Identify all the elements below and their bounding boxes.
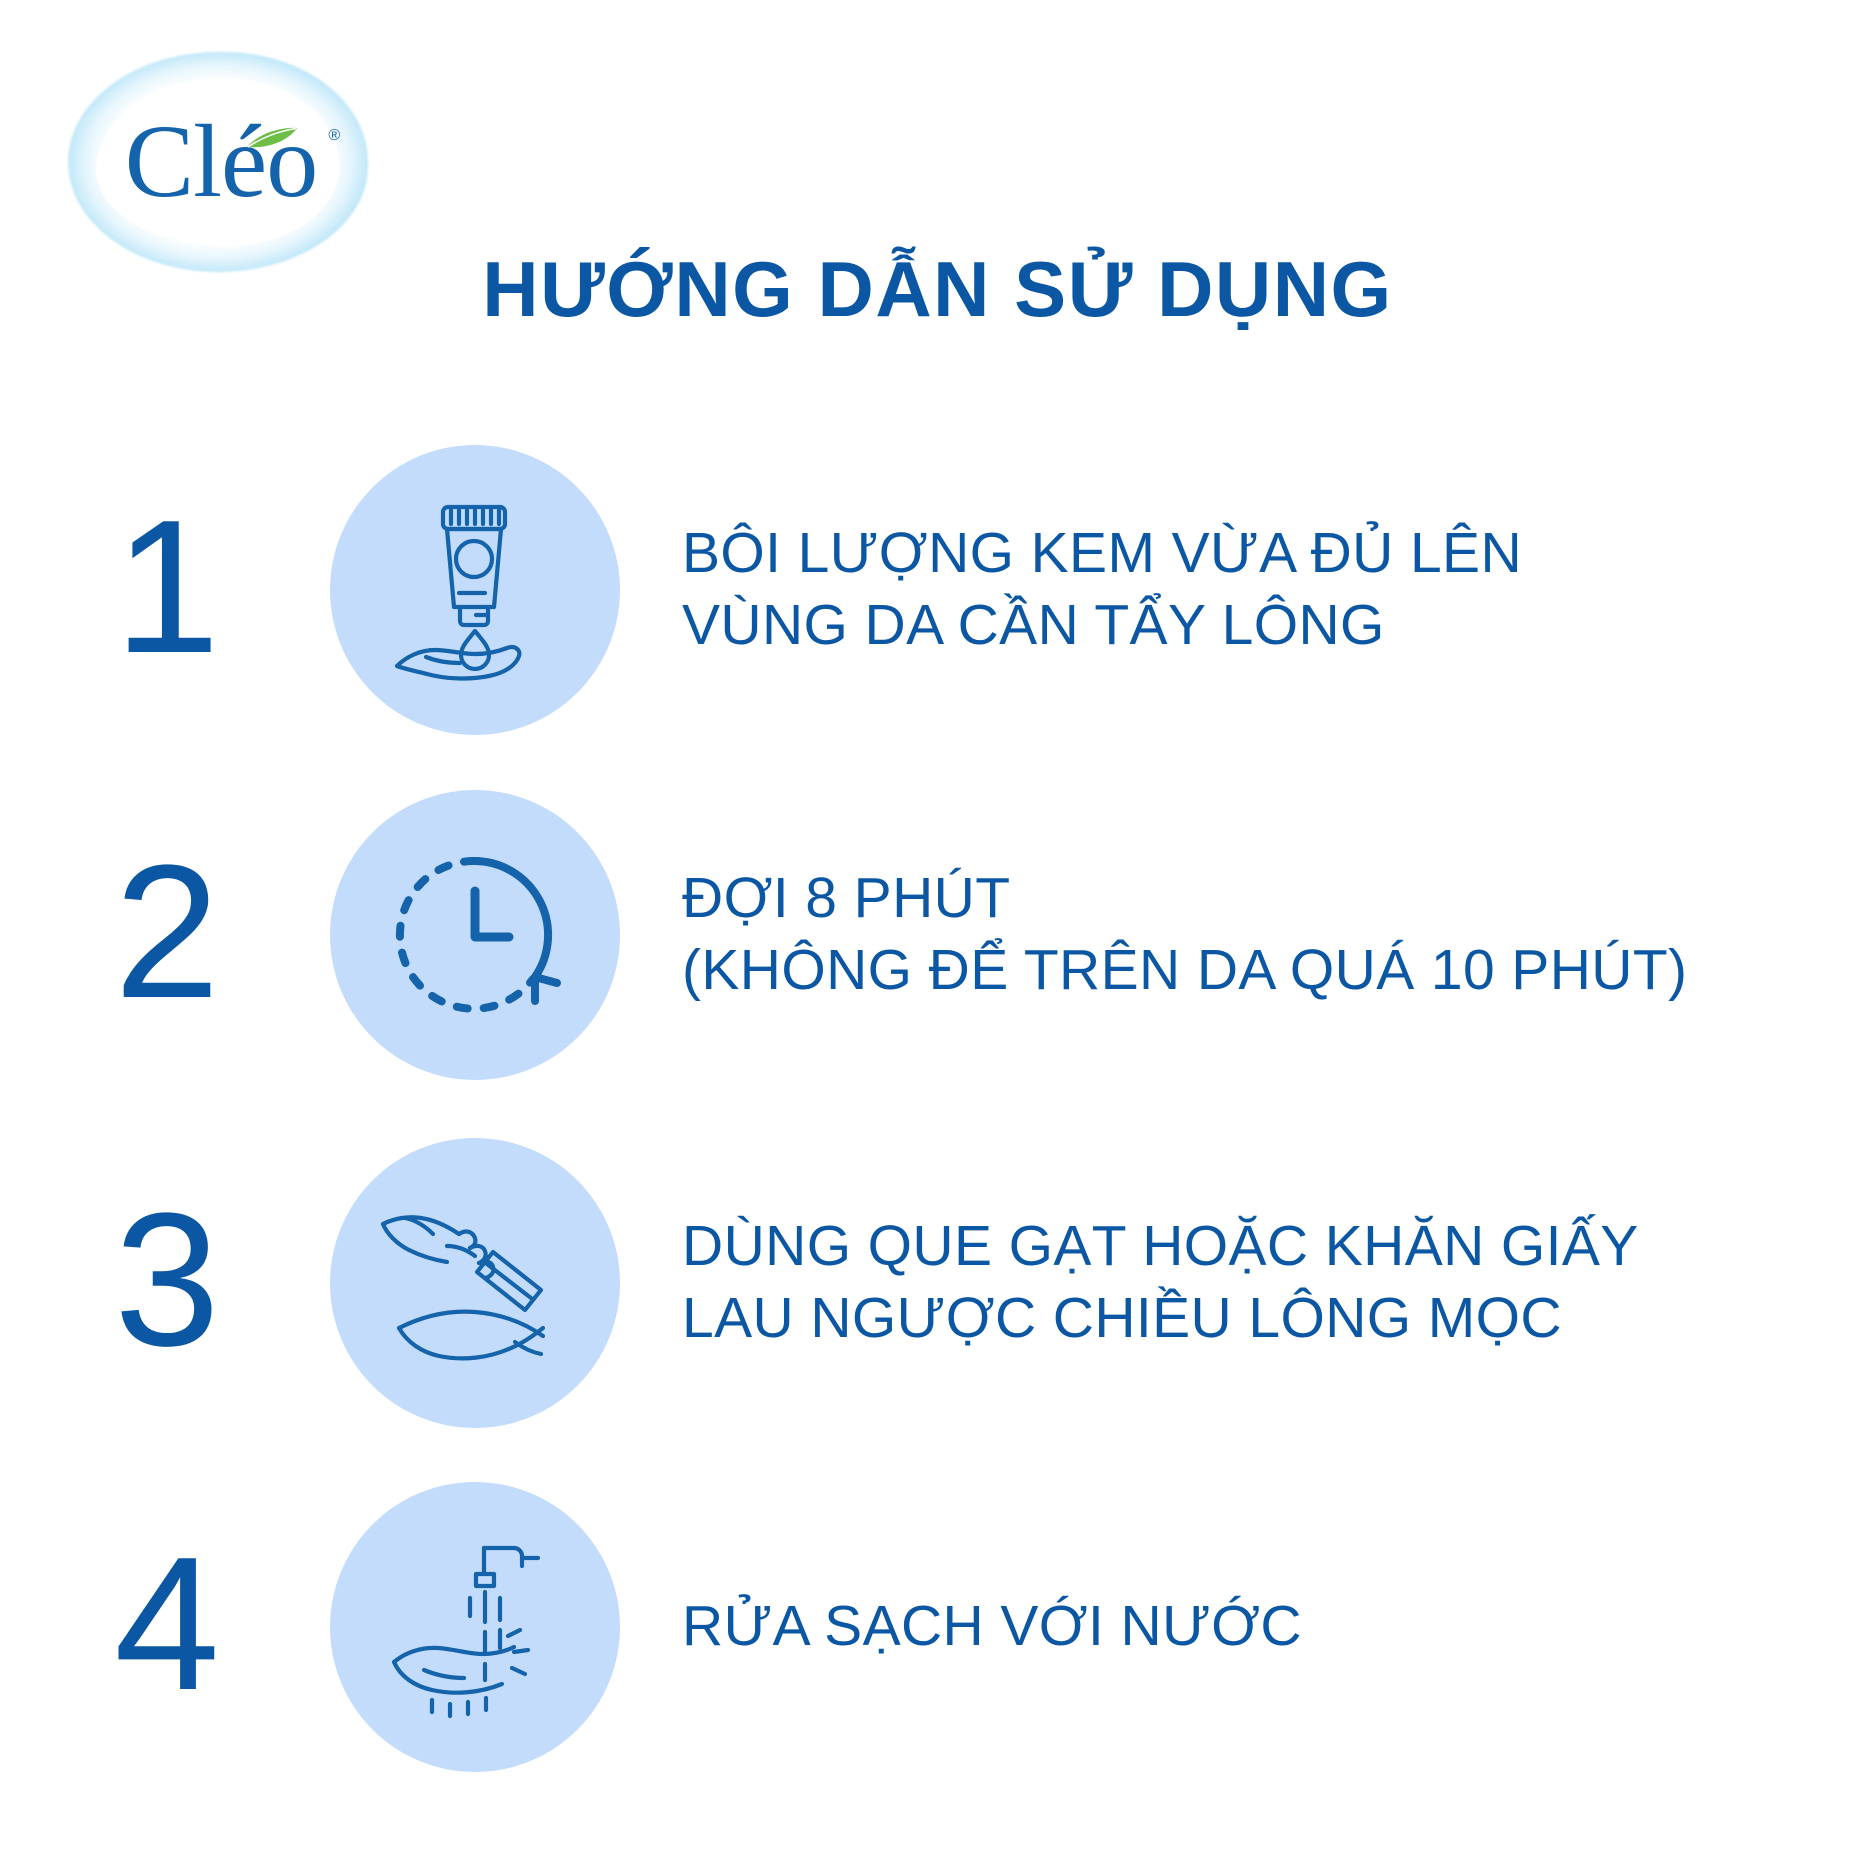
step-text-line: LAU NGƯỢC CHIỀU LÔNG MỌC (682, 1283, 1875, 1355)
step-text-line: ĐỢI 8 PHÚT (682, 863, 1875, 935)
step-text-4: RỬA SẠCH VỚI NƯỚC (620, 1591, 1875, 1663)
cream-tube-drop-on-hand-icon (330, 445, 620, 735)
step-text-3: DÙNG QUE GẠT HOẶC KHĂN GIẤY LAU NGƯỢC CH… (620, 1211, 1875, 1355)
logo-text-wrap: Cléo ® (68, 52, 368, 272)
logo-wordmark: Cléo ® (119, 110, 317, 214)
leaf-icon (245, 126, 299, 150)
clock-timer-icon (330, 790, 620, 1080)
step-text-line: VÙNG DA CẦN TẨY LÔNG (682, 590, 1875, 662)
instruction-poster: Cléo ® HƯỚNG DẪN SỬ DỤNG 1 (0, 0, 1875, 1875)
step-text-2: ĐỢI 8 PHÚT (KHÔNG ĐỂ TRÊN DA QUÁ 10 PHÚT… (620, 863, 1875, 1007)
spatula-scraping-leg-icon (330, 1138, 620, 1428)
step-row-1: 1 BÔI LƯỢNG (0, 425, 1875, 755)
registered-mark: ® (328, 128, 339, 144)
step-number-3: 3 (0, 1185, 330, 1375)
brand-logo: Cléo ® (68, 52, 368, 272)
step-text-line: BÔI LƯỢNG KEM VỪA ĐỦ LÊN (682, 518, 1875, 590)
page-title: HƯỚNG DẪN SỬ DỤNG (0, 244, 1875, 335)
step-text-line: RỬA SẠCH VỚI NƯỚC (682, 1591, 1875, 1663)
logo-word-text: Cléo (125, 104, 317, 219)
hand-washing-faucet-icon (330, 1482, 620, 1772)
step-row-3: 3 DÙNG QUE GẠT HOẶC K (0, 1118, 1875, 1448)
step-row-4: 4 RỬA SẠCH V (0, 1462, 1875, 1792)
step-row-2: 2 ĐỢI 8 PHÚT (KHÔNG ĐỂ TRÊN DA QUÁ 10 PH… (0, 770, 1875, 1100)
step-text-line: (KHÔNG ĐỂ TRÊN DA QUÁ 10 PHÚT) (682, 935, 1875, 1007)
step-number-2: 2 (0, 837, 330, 1027)
step-text-line: DÙNG QUE GẠT HOẶC KHĂN GIẤY (682, 1211, 1875, 1283)
step-number-1: 1 (0, 492, 330, 682)
step-text-1: BÔI LƯỢNG KEM VỪA ĐỦ LÊN VÙNG DA CẦN TẨY… (620, 518, 1875, 662)
step-number-4: 4 (0, 1529, 330, 1719)
